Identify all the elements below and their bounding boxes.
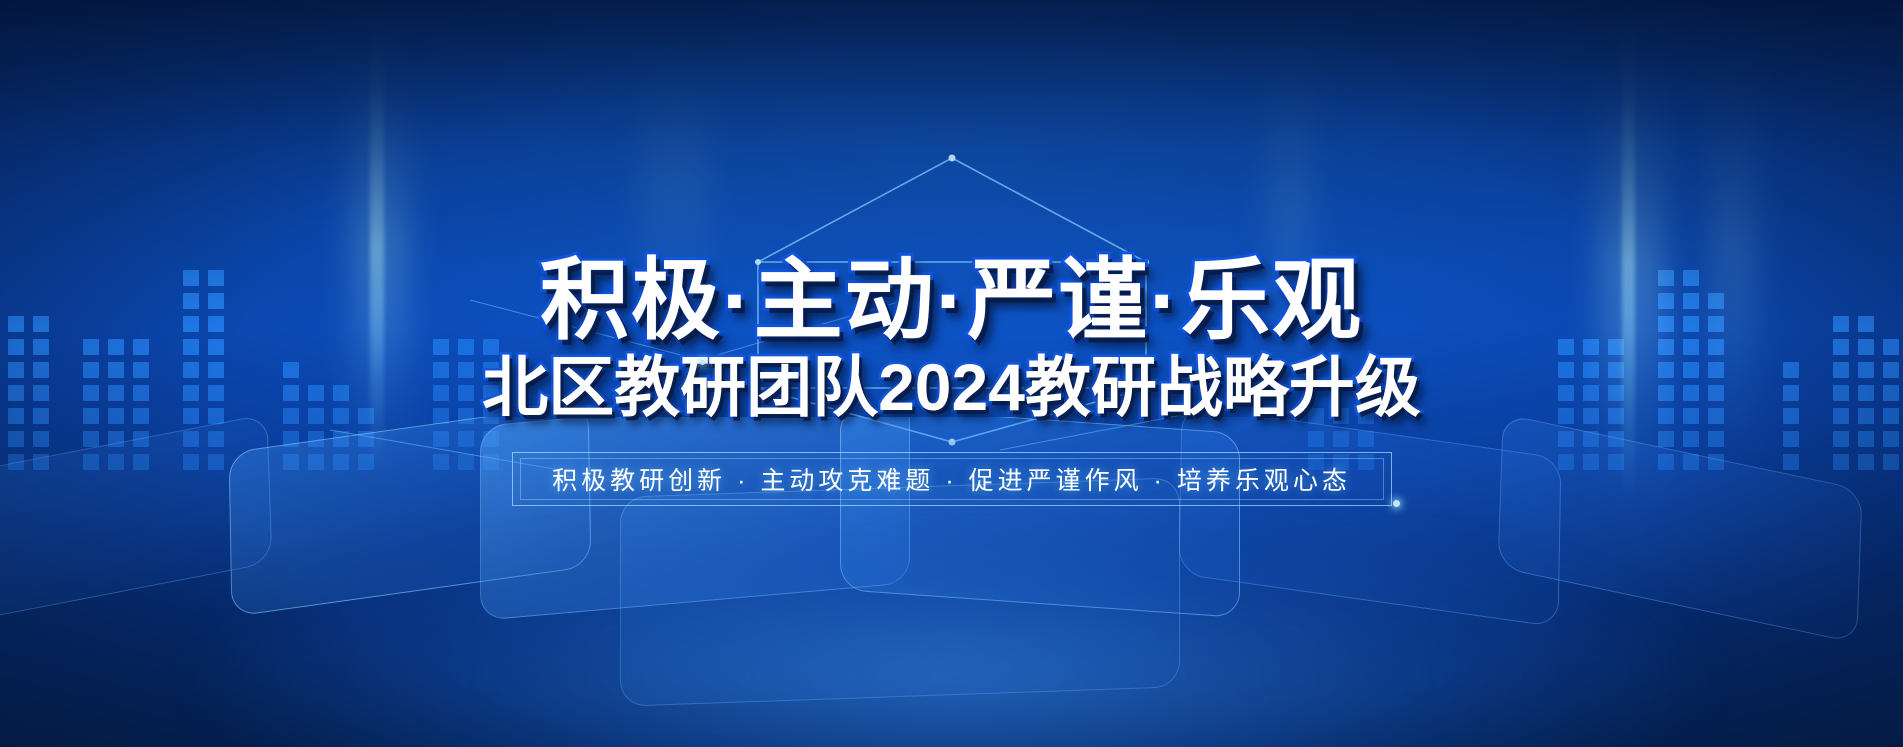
tagline-frame: 积极教研创新 · 主动攻克难题 · 促进严谨作风 · 培养乐观心态 xyxy=(512,452,1392,506)
banner-title-sub: 北区教研团队2024教研战略升级 xyxy=(0,354,1903,420)
promo-banner: 积极·主动·严谨·乐观 北区教研团队2024教研战略升级 积极教研创新 · 主动… xyxy=(0,0,1903,747)
banner-title-main: 积极·主动·严谨·乐观 xyxy=(0,256,1903,345)
banner-tagline: 积极教研创新 · 主动攻克难题 · 促进严谨作风 · 培养乐观心态 xyxy=(512,452,1392,506)
